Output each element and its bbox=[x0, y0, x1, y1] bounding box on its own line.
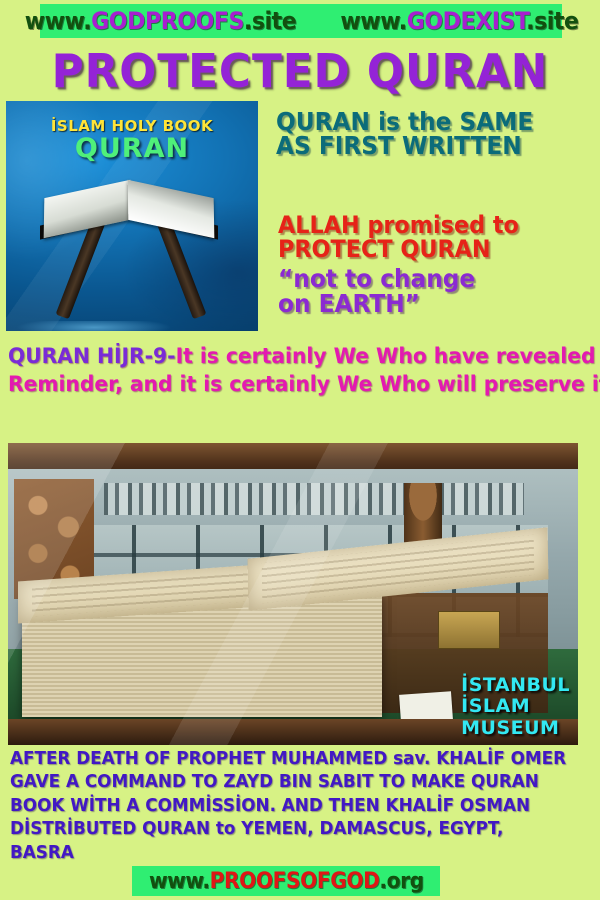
bottom-site-banner: www.PROOFSOFGOD.org bbox=[132, 866, 440, 896]
museum-caption-line-1: İSTANBUL bbox=[461, 675, 570, 696]
quran-image-caption-main: QURAN bbox=[6, 133, 258, 164]
calligraphy-frieze bbox=[104, 483, 524, 515]
site-link-godexist[interactable]: www.GODEXIST.site bbox=[340, 7, 578, 35]
quran-verse-hijr-9: QURAN HİJR-9-It is certainly We Who have… bbox=[8, 342, 575, 399]
history-line-4: DİSTRİBUTED QURAN to YEMEN, DAMASCUS, EG… bbox=[10, 818, 576, 841]
verse-text-line-1: It is certainly We Who have revealed the bbox=[176, 344, 600, 368]
history-text-block: AFTER DEATH OF PROPHET MUHAMMED sav. KHA… bbox=[10, 748, 576, 865]
museum-photo: İSTANBUL İSLAM MUSEUM bbox=[8, 443, 578, 745]
statement-line-2: AS FIRST WRITTEN bbox=[276, 134, 574, 158]
poster-root: www.GODPROOFS.site www.GODEXIST.site PRO… bbox=[0, 0, 600, 900]
history-line-3: BOOK WİTH A COMMİSSİON. AND THEN KHALİF … bbox=[10, 795, 576, 818]
quran-book-image: İSLAM HOLY BOOK QURAN bbox=[6, 101, 258, 331]
history-line-1: AFTER DEATH OF PROPHET MUHAMMED sav. KHA… bbox=[10, 748, 576, 771]
history-line-5: BASRA bbox=[10, 842, 576, 865]
statement-line-2: on EARTH” bbox=[278, 291, 576, 316]
statement-same-as-first-written: QURAN is the SAME AS FIRST WRITTEN bbox=[276, 110, 574, 158]
site-link-name: GODPROOFS bbox=[91, 7, 244, 35]
page-title: PROTECTED QURAN bbox=[15, 44, 585, 98]
brass-plaque bbox=[438, 611, 500, 649]
museum-caption-line-3: MUSEUM bbox=[461, 718, 570, 739]
site-link-prefix: www. bbox=[25, 7, 91, 35]
site-link-suffix: .site bbox=[526, 7, 578, 35]
verse-reference: QURAN HİJR-9- bbox=[8, 344, 176, 368]
site-link-prefix: www. bbox=[340, 7, 406, 35]
site-link-proofsofgod[interactable]: www.PROOFSOFGOD.org bbox=[149, 869, 424, 894]
verse-line-1: QURAN HİJR-9-It is certainly We Who have… bbox=[8, 342, 575, 370]
statement-allah-promised: ALLAH promised to PROTECT QURAN bbox=[278, 213, 576, 261]
museum-caption: İSTANBUL İSLAM MUSEUM bbox=[461, 675, 570, 739]
site-link-name: GODEXIST bbox=[407, 7, 526, 35]
museum-caption-line-2: İSLAM bbox=[461, 696, 570, 717]
site-link-suffix: .org bbox=[379, 869, 423, 894]
site-link-name: PROOFSOFGOD bbox=[209, 869, 379, 894]
site-link-prefix: www. bbox=[149, 869, 210, 894]
rahle-stand-illustration bbox=[44, 189, 220, 321]
top-site-banner: www.GODPROOFS.site www.GODEXIST.site bbox=[40, 4, 562, 38]
statement-not-to-change: “not to change on EARTH” bbox=[278, 266, 576, 316]
history-line-2: GAVE A COMMAND TO ZAYD BIN SABIT TO MAKE… bbox=[10, 771, 576, 794]
site-link-godproofs[interactable]: www.GODPROOFS.site bbox=[25, 7, 296, 35]
image-floor-glow bbox=[16, 321, 172, 331]
statement-line-1: “not to change bbox=[278, 266, 576, 291]
statement-line-1: ALLAH promised to bbox=[278, 213, 576, 237]
verse-text-line-2: Reminder, and it is certainly We Who wil… bbox=[8, 370, 575, 398]
site-link-suffix: .site bbox=[244, 7, 296, 35]
statement-line-2: PROTECT QURAN bbox=[278, 237, 576, 261]
